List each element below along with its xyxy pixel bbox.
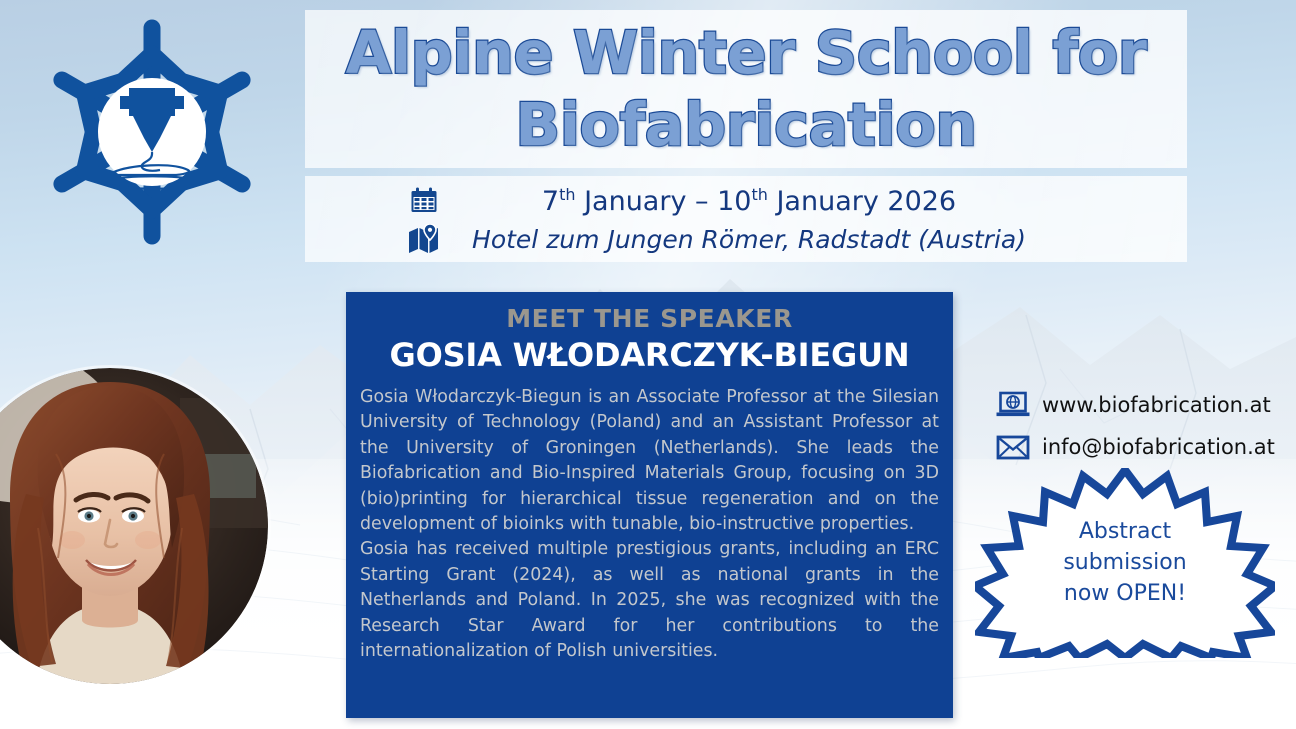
meet-the-speaker-label: MEET THE SPEAKER [346,304,953,333]
title-line-2: Biofabrication [305,89,1187,161]
bio-paragraph-2: Gosia has received multiple prestigious … [360,537,939,664]
title-band: Alpine Winter School for Biofabrication [305,10,1187,168]
laptop-globe-icon [996,391,1042,419]
badge-line-1: Abstract [975,516,1275,547]
badge-line-3: now OPEN! [975,578,1275,609]
contact-block: www.biofabrication.at info@biofabricatio… [996,386,1288,470]
speaker-panel: MEET THE SPEAKER GOSIA WŁODARCZYK-BIEGUN… [346,292,953,718]
event-date: 7th January – 10th January 2026 [461,185,1187,217]
snowflake-bioprinter-logo [32,12,272,252]
info-band: 7th January – 10th January 2026 [305,176,1187,262]
abstract-submission-badge[interactable]: Abstract submission now OPEN! [975,468,1275,658]
badge-text: Abstract submission now OPEN! [975,516,1275,609]
poster-canvas: Alpine Winter School for Biofabrication [0,0,1296,729]
speaker-bio: Gosia Włodarczyk-Biegun is an Associate … [360,385,939,664]
map-pin-icon [387,224,461,254]
website-url: www.biofabrication.at [1042,393,1271,417]
event-date-row: 7th January – 10th January 2026 [305,182,1187,220]
website-row[interactable]: www.biofabrication.at [996,386,1288,424]
calendar-icon [387,186,461,216]
bio-paragraph-1: Gosia Włodarczyk-Biegun is an Associate … [360,385,939,537]
envelope-icon [996,433,1042,461]
email-address: info@biofabrication.at [1042,435,1275,459]
badge-line-2: submission [975,547,1275,578]
title-line-1: Alpine Winter School for [305,17,1187,89]
event-location: Hotel zum Jungen Römer, Radstadt (Austri… [461,225,1187,254]
email-row[interactable]: info@biofabrication.at [996,428,1288,466]
page-title: Alpine Winter School for Biofabrication [305,17,1187,161]
event-location-row: Hotel zum Jungen Römer, Radstadt (Austri… [305,220,1187,258]
speaker-name: GOSIA WŁODARCZYK-BIEGUN [346,336,953,374]
